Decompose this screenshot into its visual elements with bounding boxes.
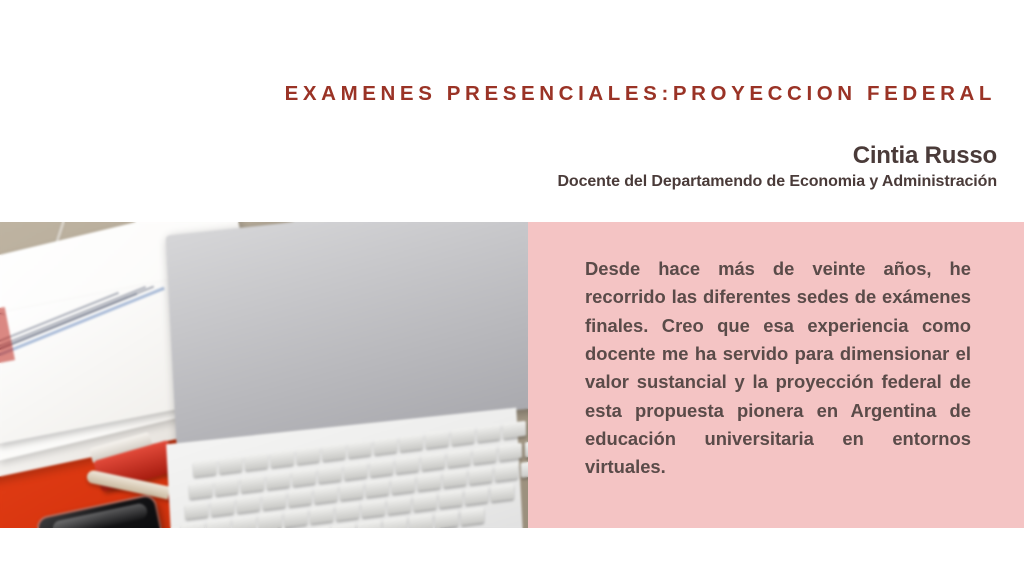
keyboard-key xyxy=(388,496,411,514)
keyboard-key xyxy=(409,513,432,528)
keyboard-key xyxy=(473,446,496,464)
keyboard-key xyxy=(503,421,526,439)
keyboard-key xyxy=(521,460,528,478)
keyboard-key xyxy=(417,473,440,491)
keyboard-key xyxy=(297,446,320,464)
keyboard-key xyxy=(499,443,522,461)
keyboard-key xyxy=(344,462,367,480)
keyboard-key xyxy=(314,485,337,503)
keyboard-key xyxy=(193,459,216,477)
keyboard-key xyxy=(443,469,466,487)
keyboard-key xyxy=(215,478,238,496)
keyboard-key xyxy=(491,484,514,502)
keyboard-key xyxy=(293,468,316,486)
presenter-name: Cintia Russo xyxy=(853,142,997,170)
keyboard-key xyxy=(413,493,436,511)
keyboard-key xyxy=(495,463,518,481)
page-title: EXAMENES PRESENCIALES:PROYECCION FEDERAL xyxy=(0,82,996,106)
keyboard-key xyxy=(322,443,345,461)
keyboard-key xyxy=(207,518,230,528)
keyboard-key xyxy=(451,427,474,445)
keyboard-key xyxy=(366,479,389,497)
keyboard-key xyxy=(336,503,359,521)
keyboard-key xyxy=(396,455,419,473)
keyboard-key xyxy=(263,492,286,510)
keyboard-key xyxy=(267,471,290,489)
keyboard-key xyxy=(318,465,341,483)
keyboard-key xyxy=(383,517,406,528)
keyboard-key xyxy=(284,509,307,527)
slide-root: EXAMENES PRESENCIALES:PROYECCION FEDERAL… xyxy=(0,0,1024,576)
keyboard-key xyxy=(348,440,371,458)
keyboard-key xyxy=(469,466,492,484)
keyboard-key xyxy=(233,515,256,528)
keyboard-key xyxy=(374,437,397,455)
content-band: Universidad Nacional de Quilmes DELL xyxy=(0,222,1024,528)
keyboard-key xyxy=(271,449,294,467)
keyboard-key xyxy=(461,507,484,525)
keyboard-key xyxy=(219,456,242,474)
keyboard-key xyxy=(189,481,212,499)
keyboard-key xyxy=(426,430,449,448)
keyboard-key xyxy=(241,474,264,492)
keyboard-key xyxy=(211,498,234,516)
keyboard-key xyxy=(362,499,385,517)
keyboard-key xyxy=(439,490,462,508)
photo-laptop-desk: Universidad Nacional de Quilmes DELL xyxy=(0,222,528,528)
quote-panel: Desde hace más de veinte años, he recorr… xyxy=(528,222,1024,528)
keyboard-key xyxy=(477,424,500,442)
keyboard-key xyxy=(288,488,311,506)
laptop-dell: Universidad Nacional de Quilmes DELL xyxy=(170,222,528,528)
quote-text: Desde hace más de veinte años, he recorr… xyxy=(585,255,971,482)
keyboard-key xyxy=(435,510,458,528)
keyboard-key xyxy=(465,487,488,505)
keyboard-key xyxy=(392,476,415,494)
keyboard-key xyxy=(447,449,470,467)
keyboard-key xyxy=(245,452,268,470)
keyboard-key xyxy=(237,495,260,513)
keyboard-key xyxy=(340,482,363,500)
keyboard-key xyxy=(370,459,393,477)
keyboard-key xyxy=(422,452,445,470)
keyboard-key xyxy=(310,506,333,524)
keyboard-key xyxy=(400,433,423,451)
presenter-role: Docente del Departamendo de Economia y A… xyxy=(557,173,997,191)
keyboard-key xyxy=(259,512,282,528)
keyboard-key xyxy=(185,501,208,519)
